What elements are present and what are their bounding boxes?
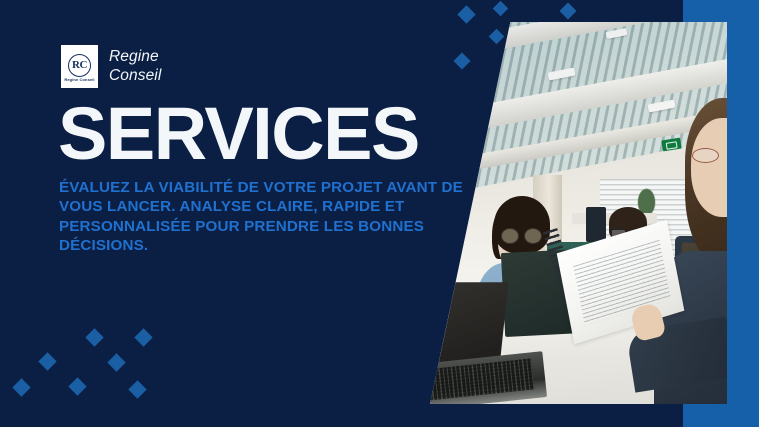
diamond-shape bbox=[68, 377, 86, 395]
page-title: SERVICES bbox=[58, 97, 419, 171]
office-monitor bbox=[586, 207, 606, 241]
logo-initials: RC bbox=[72, 60, 87, 71]
person-left-hair bbox=[494, 196, 550, 253]
brand-lockup: RC Regine Conseil Regine Conseil bbox=[61, 45, 161, 88]
diamond-shape bbox=[128, 380, 146, 398]
diamond-shape bbox=[107, 353, 125, 371]
logo-mark-icon: RC Regine Conseil bbox=[61, 45, 98, 88]
diamond-shape bbox=[38, 352, 56, 370]
exit-sign-icon bbox=[661, 137, 681, 151]
diamond-shape bbox=[134, 328, 152, 346]
diamond-shape bbox=[489, 29, 505, 45]
page-subtitle: Évaluez la viabilité de votre projet ava… bbox=[59, 178, 464, 256]
brand-name: Regine Conseil bbox=[109, 48, 161, 86]
diamond-shape bbox=[457, 5, 475, 23]
diamond-shape bbox=[560, 3, 577, 20]
slide-canvas: RC Regine Conseil Regine Conseil SERVICE… bbox=[0, 0, 759, 427]
diamond-shape bbox=[493, 1, 509, 17]
logo-caption: Regine Conseil bbox=[64, 78, 94, 82]
diamond-shape bbox=[12, 378, 30, 396]
logo-monogram-circle: RC bbox=[68, 54, 91, 77]
diamond-shape bbox=[85, 328, 103, 346]
sunglasses-icon bbox=[501, 228, 542, 244]
diamond-shape bbox=[454, 53, 471, 70]
meeting-photo bbox=[424, 22, 727, 404]
photo-scene bbox=[424, 22, 727, 404]
